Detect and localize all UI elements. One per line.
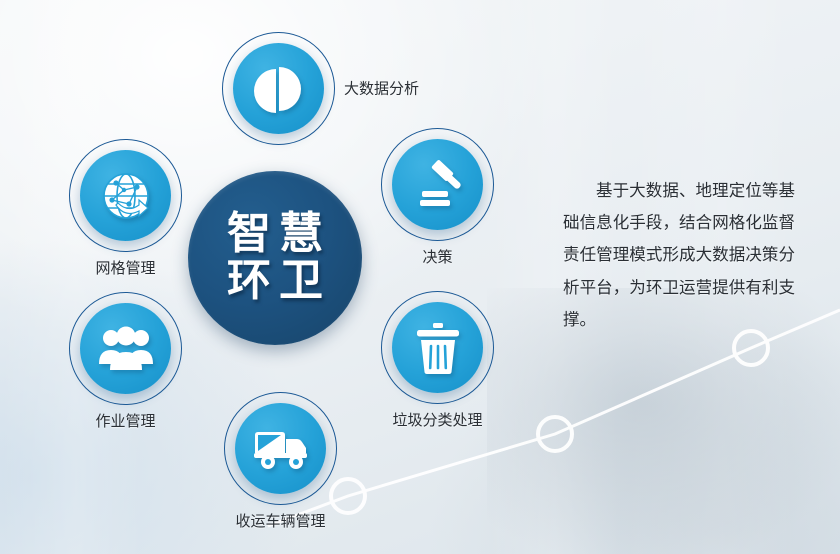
pie-chart-icon <box>253 63 305 115</box>
node-disc[interactable] <box>235 403 326 494</box>
node-disc[interactable] <box>80 303 171 394</box>
node-label-decision: 决策 <box>422 250 452 265</box>
node-decision[interactable]: 决策 <box>381 128 494 241</box>
node-big-data-analysis[interactable]: 大数据分析 <box>222 32 335 145</box>
infographic-canvas: 智慧 环卫 大数据分析 <box>0 0 840 554</box>
node-label-vehicle-management: 收运车辆管理 <box>235 514 325 529</box>
network-globe-icon <box>98 168 154 224</box>
description-paragraph: 基于大数据、地理定位等基础信息化手段，结合网格化监督责任管理模式形成大数据决策分… <box>563 175 795 336</box>
node-label-waste-sorting: 垃圾分类处理 <box>392 413 482 428</box>
node-disc[interactable] <box>392 302 483 393</box>
node-disc[interactable] <box>233 43 324 134</box>
node-label-operation-management: 作业管理 <box>95 414 155 429</box>
garbage-truck-icon <box>252 427 310 471</box>
gavel-icon <box>411 158 465 212</box>
node-waste-sorting[interactable]: 垃圾分类处理 <box>381 291 494 404</box>
central-hub: 智慧 环卫 <box>188 171 362 345</box>
node-grid-management[interactable]: 网格管理 <box>69 139 182 252</box>
trash-bin-icon <box>413 321 463 375</box>
hub-title-line-1: 智慧 <box>219 211 331 258</box>
node-label-grid-management: 网格管理 <box>95 261 155 276</box>
node-disc[interactable] <box>392 139 483 230</box>
people-group-icon <box>98 324 154 374</box>
node-label-big-data-analysis: 大数据分析 <box>344 81 419 96</box>
hub-title-line-2: 环卫 <box>219 258 331 305</box>
node-vehicle-management[interactable]: 收运车辆管理 <box>224 392 337 505</box>
node-operation-management[interactable]: 作业管理 <box>69 292 182 405</box>
node-disc[interactable] <box>80 150 171 241</box>
